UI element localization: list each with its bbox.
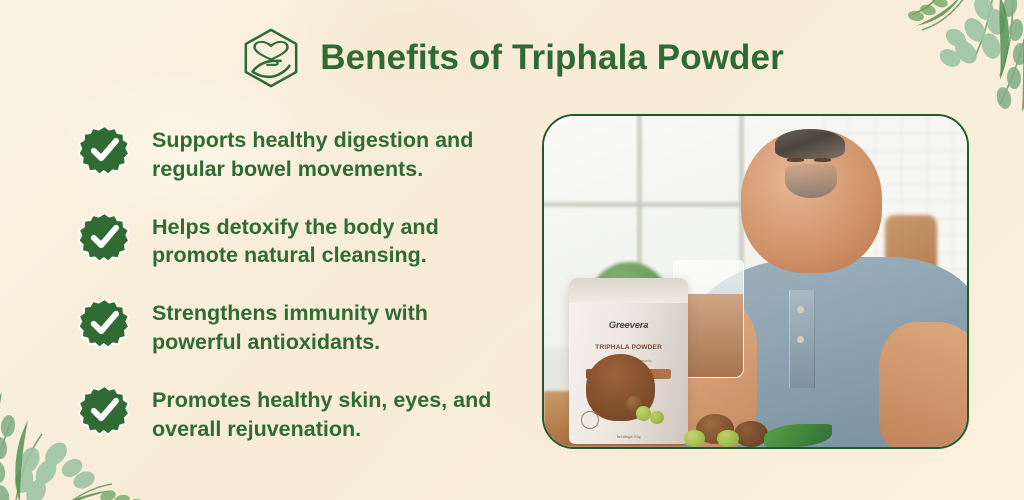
fruit-amla bbox=[684, 430, 705, 447]
face bbox=[741, 129, 882, 273]
eye bbox=[787, 158, 804, 162]
list-item: Promotes healthy skin, eyes, and overall… bbox=[78, 386, 498, 444]
fruit-amla bbox=[717, 430, 738, 447]
shirt-button bbox=[797, 336, 804, 343]
benefits-list: Supports healthy digestion and regular b… bbox=[78, 126, 498, 443]
heart-in-hand-hexagon-icon bbox=[240, 27, 302, 89]
check-seal-icon bbox=[78, 296, 131, 349]
list-item-label: Helps detoxify the body and promote natu… bbox=[152, 213, 492, 271]
certification-seal-icon bbox=[581, 411, 599, 429]
header: Benefits of Triphala Powder bbox=[0, 27, 1024, 89]
list-item-label: Strengthens immunity with powerful antio… bbox=[152, 299, 492, 357]
check-seal-icon bbox=[78, 210, 131, 263]
list-item: Helps detoxify the body and promote natu… bbox=[78, 213, 498, 271]
product-pouch: Greevera TRIPHALA POWDER Cleanse | Balan… bbox=[569, 278, 687, 444]
list-item-label: Promotes healthy skin, eyes, and overall… bbox=[152, 386, 492, 444]
check-seal-icon bbox=[78, 123, 131, 176]
arm-on-stomach bbox=[879, 322, 969, 449]
photo-scene: Greevera TRIPHALA POWDER Cleanse | Balan… bbox=[544, 116, 967, 447]
fruit-amla bbox=[650, 411, 664, 424]
product-photo: Greevera TRIPHALA POWDER Cleanse | Balan… bbox=[542, 114, 969, 449]
page-title: Benefits of Triphala Powder bbox=[320, 38, 784, 78]
product-name: TRIPHALA POWDER bbox=[569, 344, 687, 351]
list-item-label: Supports healthy digestion and regular b… bbox=[152, 126, 492, 184]
pouch-seal-top bbox=[569, 278, 687, 303]
check-seal-icon bbox=[78, 383, 131, 436]
product-weight: Net Weight 100g bbox=[569, 435, 687, 439]
eye bbox=[814, 158, 831, 162]
beard bbox=[785, 164, 837, 199]
list-item: Strengthens immunity with powerful antio… bbox=[78, 299, 498, 357]
product-brand: Greevera bbox=[569, 320, 687, 331]
fruit-amla bbox=[636, 406, 651, 421]
infographic-canvas: Benefits of Triphala Powder Supports hea… bbox=[0, 0, 1024, 500]
hair bbox=[775, 129, 846, 159]
person-drinking bbox=[654, 119, 969, 447]
list-item: Supports healthy digestion and regular b… bbox=[78, 126, 498, 184]
